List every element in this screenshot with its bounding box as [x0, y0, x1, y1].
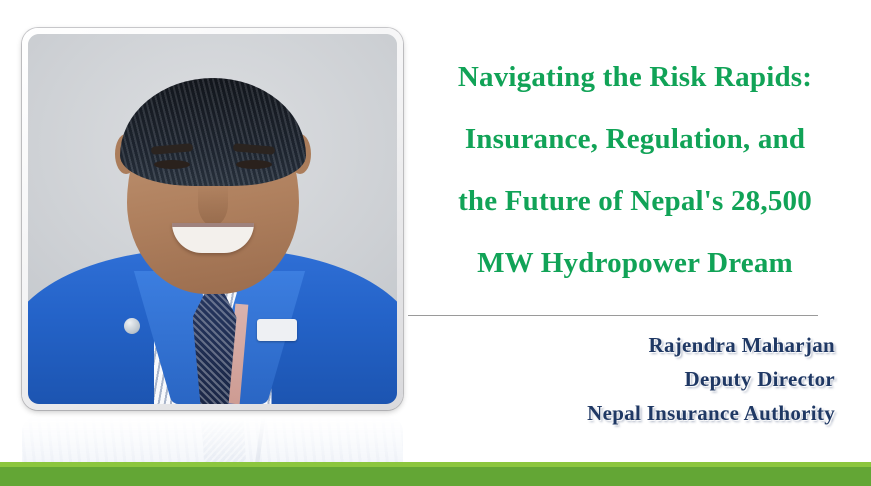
- speaker-credentials: Rajendra Maharjan Deputy Director Nepal …: [430, 328, 835, 430]
- speaker-photo-frame: [22, 28, 403, 410]
- speaker-name: Rajendra Maharjan: [430, 328, 835, 362]
- portrait-eye-left: [154, 160, 190, 169]
- title-line-3: the Future of Nepal's 28,500: [415, 170, 855, 232]
- title-line-4: MW Hydropower Dream: [415, 232, 855, 294]
- portrait-nose: [198, 182, 228, 226]
- speaker-organization: Nepal Insurance Authority: [430, 396, 835, 430]
- portrait-eye-right: [236, 160, 272, 169]
- horizontal-divider: [408, 315, 818, 316]
- speaker-photo: [28, 34, 397, 404]
- title-line-1: Navigating the Risk Rapids:: [415, 46, 855, 108]
- portrait-lapel-pin: [124, 318, 140, 334]
- portrait-name-badge: [257, 319, 297, 341]
- presentation-slide: Navigating the Risk Rapids: Insurance, R…: [0, 0, 871, 486]
- footer-band-green: [0, 467, 871, 486]
- speaker-designation: Deputy Director: [430, 362, 835, 396]
- portrait-necktie: [193, 293, 237, 404]
- title-line-2: Insurance, Regulation, and: [415, 108, 855, 170]
- slide-title: Navigating the Risk Rapids: Insurance, R…: [415, 46, 855, 294]
